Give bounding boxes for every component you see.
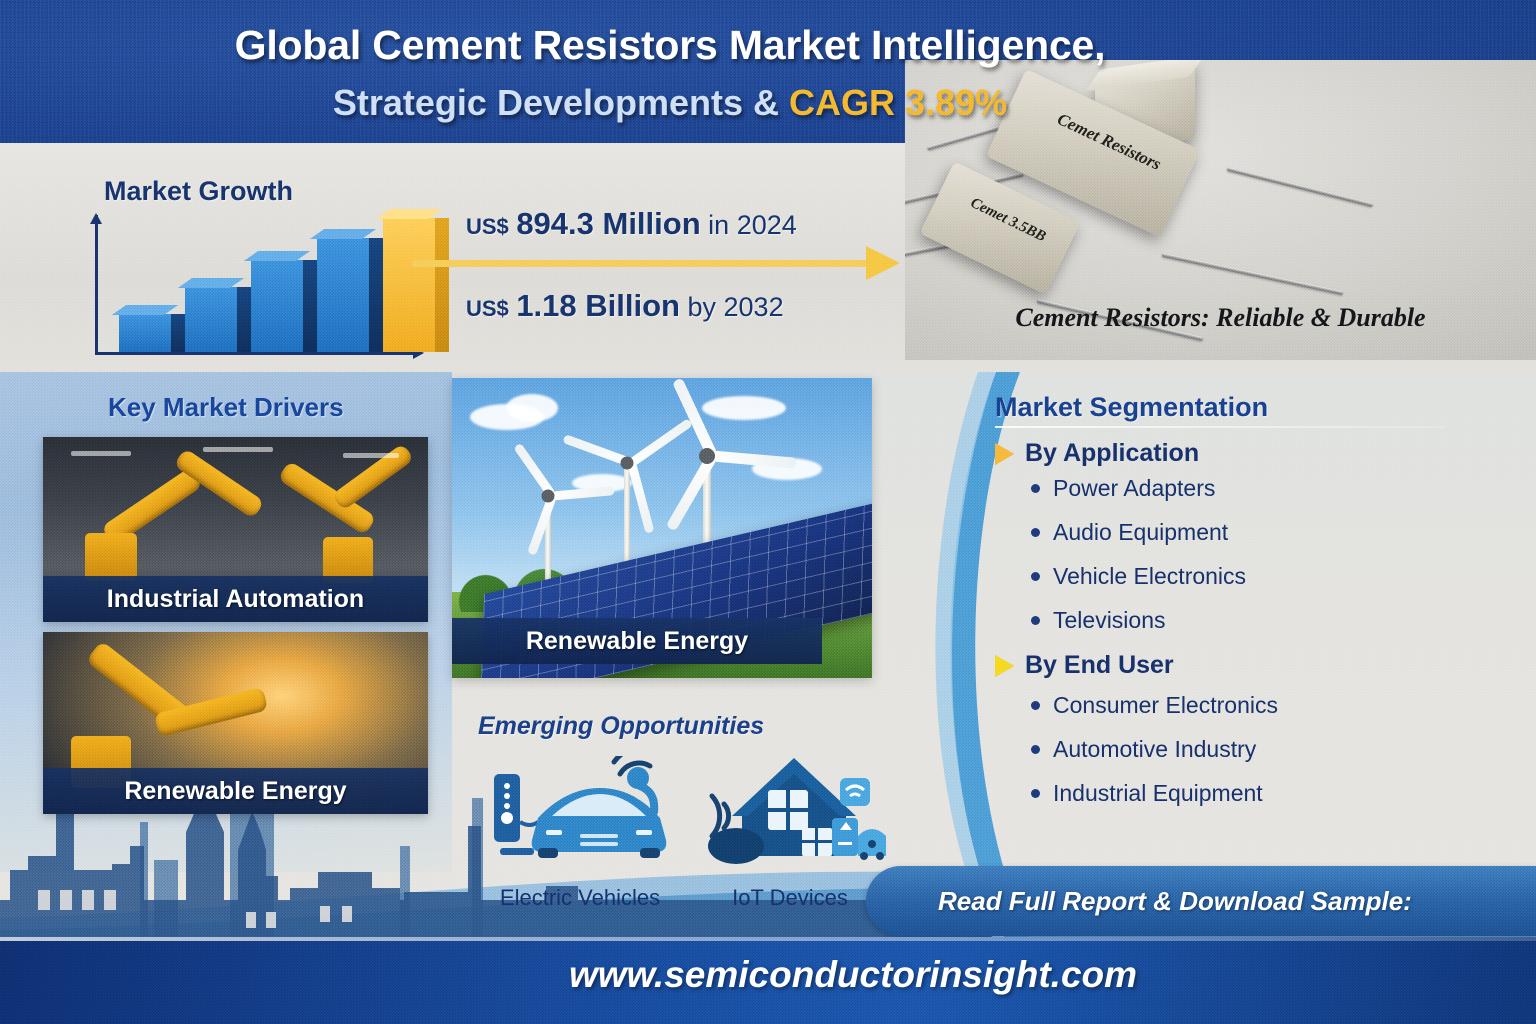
bar-side-face <box>369 238 383 352</box>
list-item[interactable]: Industrial Equipment <box>1031 780 1515 807</box>
cagr-value: CAGR 3.89% <box>789 82 1007 123</box>
list-item-label: Audio Equipment <box>1053 519 1228 546</box>
driver-card-label: Industrial Automation <box>43 576 428 622</box>
bar-front-face <box>119 314 171 352</box>
segmentation-group-application: By Application Power Adapters Audio Equi… <box>995 439 1515 634</box>
bar-side-face <box>435 218 449 352</box>
opportunity-label: Electric Vehicles <box>480 885 680 911</box>
market-segmentation-panel: Market Segmentation By Application Power… <box>995 392 1515 824</box>
value-2032-row: US$ 1.18 Billion by 2032 <box>466 288 797 324</box>
market-segmentation-title: Market Segmentation <box>995 392 1515 423</box>
opportunity-label: IoT Devices <box>690 885 890 911</box>
bullet-icon <box>1031 616 1040 625</box>
chart-bar <box>251 260 303 352</box>
turbine-hub <box>542 490 555 503</box>
bar-side-face <box>237 287 251 352</box>
opportunity-iot-devices[interactable]: IoT Devices <box>690 756 890 911</box>
driver-card-label: Renewable Energy <box>43 768 428 814</box>
chart-bar-highlight <box>383 218 435 352</box>
page-title: Global Cement Resistors Market Intellige… <box>0 22 1340 69</box>
list-item-label: Consumer Electronics <box>1053 692 1278 719</box>
segmentation-list: Consumer Electronics Automotive Industry… <box>995 692 1515 807</box>
chart-bar <box>119 314 171 352</box>
chart-bar <box>317 238 369 352</box>
segmentation-group-end-user: By End User Consumer Electronics Automot… <box>995 651 1515 807</box>
list-item-label: Vehicle Electronics <box>1053 563 1246 590</box>
turbine-blade <box>527 494 557 555</box>
electric-vehicle-charging-icon <box>480 756 680 876</box>
currency-label: US$ <box>466 296 509 321</box>
infographic-canvas: Global Cement Resistors Market Intellige… <box>0 0 1536 1024</box>
arrow-head <box>866 246 900 280</box>
turbine-blade <box>627 462 654 534</box>
driver-card-renewable-energy[interactable]: Renewable Energy <box>43 632 428 814</box>
group-heading-label: By Application <box>1025 439 1199 468</box>
value-2032-amount: 1.18 Billion <box>516 288 680 323</box>
robot-base <box>85 533 137 581</box>
bullet-icon <box>1031 745 1040 754</box>
website-url[interactable]: www.semiconductorinsight.com <box>0 954 1536 996</box>
segmentation-list: Power Adapters Audio Equipment Vehicle E… <box>995 475 1515 634</box>
value-2024-year: in 2024 <box>708 210 797 240</box>
section-divider <box>995 426 1445 428</box>
value-2024-row: US$ 894.3 Million in 2024 <box>466 206 797 242</box>
bullet-icon <box>1031 789 1040 798</box>
bullet-icon <box>1031 572 1040 581</box>
list-item[interactable]: Consumer Electronics <box>1031 692 1515 719</box>
list-item-label: Televisions <box>1053 607 1166 634</box>
ceiling-light <box>203 447 273 452</box>
subtitle-text: Strategic Developments & <box>333 82 789 123</box>
ceiling-light <box>343 453 399 458</box>
bar-front-face <box>185 287 237 352</box>
read-report-cta-band[interactable]: Read Full Report & Download Sample: <box>866 866 1536 936</box>
footer-bar: www.semiconductorinsight.com <box>0 937 1536 1024</box>
bar-front-face <box>383 218 435 352</box>
value-2032-year: by 2032 <box>688 292 784 322</box>
list-item[interactable]: Televisions <box>1031 607 1515 634</box>
bar-side-face <box>171 314 185 352</box>
driver-card-industrial-automation[interactable]: Industrial Automation <box>43 437 428 622</box>
list-item-label: Automotive Industry <box>1053 736 1256 763</box>
bullet-icon <box>1031 528 1040 537</box>
bar-front-face <box>317 238 369 352</box>
key-market-drivers-title: Key Market Drivers <box>108 392 344 423</box>
market-value-figures: US$ 894.3 Million in 2024 US$ 1.18 Billi… <box>466 206 797 324</box>
list-item[interactable]: Automotive Industry <box>1031 736 1515 763</box>
segmentation-group-heading[interactable]: By End User <box>995 651 1515 680</box>
value-2024-amount: 894.3 Million <box>516 206 700 241</box>
bullet-icon <box>1031 484 1040 493</box>
bar-front-face <box>251 260 303 352</box>
market-growth-chart <box>95 205 425 355</box>
list-item[interactable]: Power Adapters <box>1031 475 1515 502</box>
triangle-right-icon <box>995 655 1014 677</box>
group-heading-label: By End User <box>1025 651 1174 680</box>
list-item[interactable]: Vehicle Electronics <box>1031 563 1515 590</box>
opportunity-electric-vehicles[interactable]: Electric Vehicles <box>480 756 680 911</box>
currency-label: US$ <box>466 214 509 239</box>
page-subtitle: Strategic Developments & CAGR 3.89% <box>0 82 1340 124</box>
triangle-right-icon <box>995 443 1014 465</box>
smart-home-iot-icon <box>690 756 890 876</box>
market-growth-title: Market Growth <box>104 176 293 207</box>
ceiling-light <box>71 451 131 456</box>
resistor-body-front <box>920 161 1081 294</box>
list-item-label: Power Adapters <box>1053 475 1215 502</box>
segmentation-group-heading[interactable]: By Application <box>995 439 1515 468</box>
turbine-hub <box>699 448 715 464</box>
cta-label: Read Full Report & Download Sample: <box>938 886 1412 917</box>
renewable-caption: Renewable Energy <box>452 618 822 664</box>
chart-y-axis <box>95 215 98 355</box>
chart-x-axis <box>95 352 415 355</box>
chart-bar <box>185 287 237 352</box>
bar-side-face <box>303 260 317 352</box>
cloud-shape <box>506 394 558 422</box>
list-item-label: Industrial Equipment <box>1053 780 1263 807</box>
turbine-hub <box>621 457 634 470</box>
list-item[interactable]: Audio Equipment <box>1031 519 1515 546</box>
resistor-caption: Cement Resistors: Reliable & Durable <box>905 303 1536 333</box>
bullet-icon <box>1031 701 1040 710</box>
emerging-opportunities-title: Emerging Opportunities <box>478 712 764 741</box>
renewable-energy-hero-photo: Renewable Energy <box>452 378 872 678</box>
cloud-shape <box>702 396 786 420</box>
